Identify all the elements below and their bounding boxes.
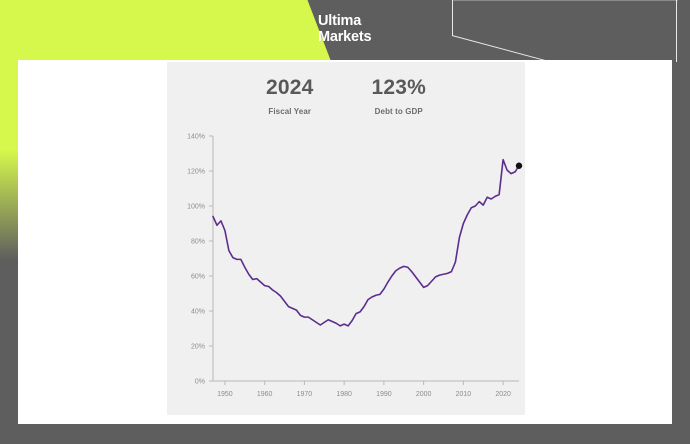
y-tick-label: 100% bbox=[187, 204, 205, 211]
decorative-vertical-line-right bbox=[676, 0, 677, 62]
debt-to-gdp-line bbox=[213, 160, 519, 326]
x-tick-label: 2020 bbox=[495, 391, 511, 398]
brand-name-line2: Markets bbox=[318, 29, 371, 45]
brand-logo: Ultima Markets bbox=[283, 13, 371, 45]
kpi-debt-to-gdp-value: 123% bbox=[372, 76, 427, 100]
x-tick-label: 2000 bbox=[416, 391, 432, 398]
kpi-debt-to-gdp-label: Debt to GDP bbox=[372, 107, 427, 116]
y-tick-label: 0% bbox=[195, 379, 205, 386]
y-tick-label: 60% bbox=[191, 274, 205, 281]
logo-bar-left bbox=[282, 15, 293, 34]
y-tick-label: 20% bbox=[191, 344, 205, 351]
x-tick-label: 1970 bbox=[297, 391, 313, 398]
debt-to-gdp-line-chart: 0%20%40%60%80%100%120%140%19501960197019… bbox=[167, 128, 525, 415]
y-tick-label: 40% bbox=[191, 309, 205, 316]
decorative-top-line bbox=[452, 0, 678, 1]
chart-panel: 2024 Fiscal Year 123% Debt to GDP 0%20%4… bbox=[167, 62, 525, 415]
brand-name-line1: Ultima bbox=[318, 13, 371, 29]
endpoint-marker bbox=[516, 163, 522, 169]
chart-svg: 0%20%40%60%80%100%120%140%19501960197019… bbox=[167, 128, 525, 415]
kpi-row: 2024 Fiscal Year 123% Debt to GDP bbox=[167, 76, 525, 116]
kpi-fiscal-year-label: Fiscal Year bbox=[266, 107, 314, 116]
logo-bar-right bbox=[295, 20, 307, 42]
x-tick-label: 1990 bbox=[376, 391, 392, 398]
decorative-vertical-line-left bbox=[452, 0, 453, 36]
x-tick-label: 2010 bbox=[456, 391, 472, 398]
kpi-fiscal-year-value: 2024 bbox=[266, 76, 314, 100]
ultima-bars-icon bbox=[283, 13, 309, 45]
brand-name: Ultima Markets bbox=[318, 13, 371, 45]
kpi-fiscal-year: 2024 Fiscal Year bbox=[266, 76, 314, 116]
x-tick-label: 1950 bbox=[217, 391, 233, 398]
kpi-debt-to-gdp: 123% Debt to GDP bbox=[372, 76, 427, 116]
screenshot-root: Ultima Markets 2024 Fiscal Year 123% Deb… bbox=[0, 0, 690, 444]
y-tick-label: 80% bbox=[191, 239, 205, 246]
y-tick-label: 120% bbox=[187, 169, 205, 176]
x-tick-label: 1980 bbox=[336, 391, 352, 398]
y-tick-label: 140% bbox=[187, 134, 205, 141]
x-tick-label: 1960 bbox=[257, 391, 273, 398]
